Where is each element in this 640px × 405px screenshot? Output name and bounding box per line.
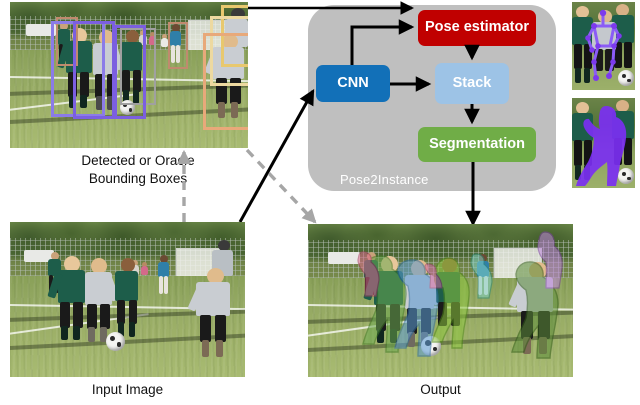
instance-masks-overlay: [308, 224, 573, 377]
soccer-ball: [106, 332, 125, 351]
person: [113, 258, 142, 340]
input-image-caption: Input Image: [10, 382, 245, 397]
edge-boxes-to-output: [247, 150, 315, 222]
person: [192, 268, 236, 358]
person: [156, 255, 171, 295]
input-image: [10, 222, 245, 377]
figure-canvas: Detected or Oracle Bounding Boxes: [0, 0, 640, 405]
edge-cnn-to-pose: [352, 27, 412, 65]
output-image-caption: Output: [308, 382, 573, 397]
instance-mask: [471, 254, 492, 298]
output-image: [308, 224, 573, 377]
person: [82, 258, 116, 344]
